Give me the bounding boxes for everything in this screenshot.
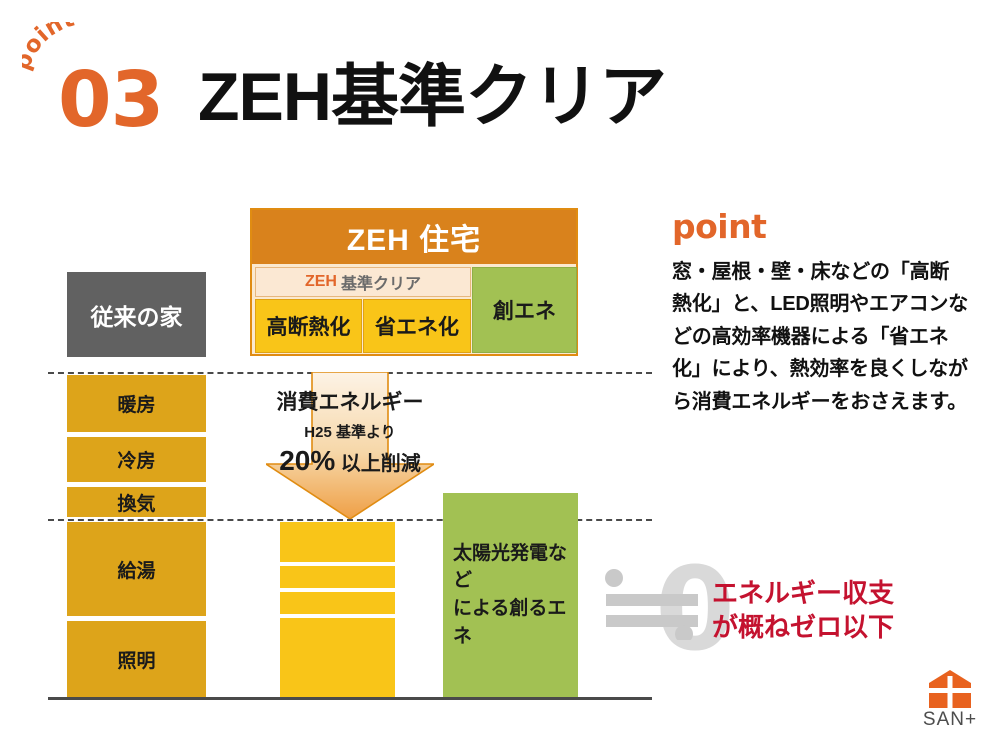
legacy-bar-lighting: 照明 — [67, 621, 206, 697]
brand-logo-text: SAN+ — [914, 709, 986, 731]
reduction-arrow — [266, 372, 434, 519]
zeh-clear-rest: 基準クリア — [341, 270, 421, 294]
zeh-sub-box-insulation: 高断熱化 — [255, 299, 362, 353]
generation-column: 太陽光発電など による創るエネ — [443, 493, 578, 697]
zeh-bar-ventilation — [280, 592, 395, 614]
generation-line-1: 太陽光発電など — [453, 540, 568, 595]
zeh-bar-cooling — [280, 566, 395, 588]
legacy-house-header: 従来の家 — [67, 272, 206, 357]
house-icon — [929, 670, 971, 708]
zeh-standard-clear-band: ZEH 基準クリア — [255, 267, 471, 297]
zeh-bar-lighting — [280, 660, 395, 697]
legacy-bar-heating: 暖房 — [67, 375, 206, 432]
legacy-bar-cooling: 冷房 — [67, 437, 206, 482]
legacy-bar-ventilation: 換気 — [67, 487, 206, 517]
chart-baseline — [48, 697, 652, 700]
zeh-sub-box-energy-creation: 創エネ — [472, 267, 577, 353]
energy-balance-text: エネルギー収支 が概ねゼロ以下 — [712, 577, 894, 645]
zeh-sub-box-energy-saving: 省エネ化 — [363, 299, 471, 353]
zeh-clear-keyword: ZEH — [305, 273, 337, 291]
less-than-or-equal-icon — [604, 568, 702, 640]
zeh-bar-heating — [280, 522, 395, 562]
slide-canvas: point 03 ZEH基準クリア ZEH 住宅 ZEH 基準クリア 高断熱化 … — [0, 0, 1000, 750]
balance-line-2: が概ねゼロ以下 — [712, 611, 894, 645]
page-number: 03 — [58, 62, 163, 139]
brand-logo: SAN+ — [914, 670, 986, 731]
page-title: ZEH基準クリア — [198, 62, 666, 133]
legacy-bar-hot-water: 給湯 — [67, 522, 206, 616]
generation-line-2: による創るエネ — [453, 595, 568, 650]
side-point-body: 窓・屋根・壁・床などの「高断熱化」と、LED照明やエアコンなどの高効率機器による… — [672, 256, 968, 418]
zeh-panel-title: ZEH 住宅 — [252, 210, 576, 264]
zeh-house-panel: ZEH 住宅 ZEH 基準クリア 高断熱化 省エネ化 創エネ — [250, 208, 578, 356]
side-point-label: point — [672, 207, 766, 246]
balance-line-1: エネルギー収支 — [712, 577, 894, 611]
